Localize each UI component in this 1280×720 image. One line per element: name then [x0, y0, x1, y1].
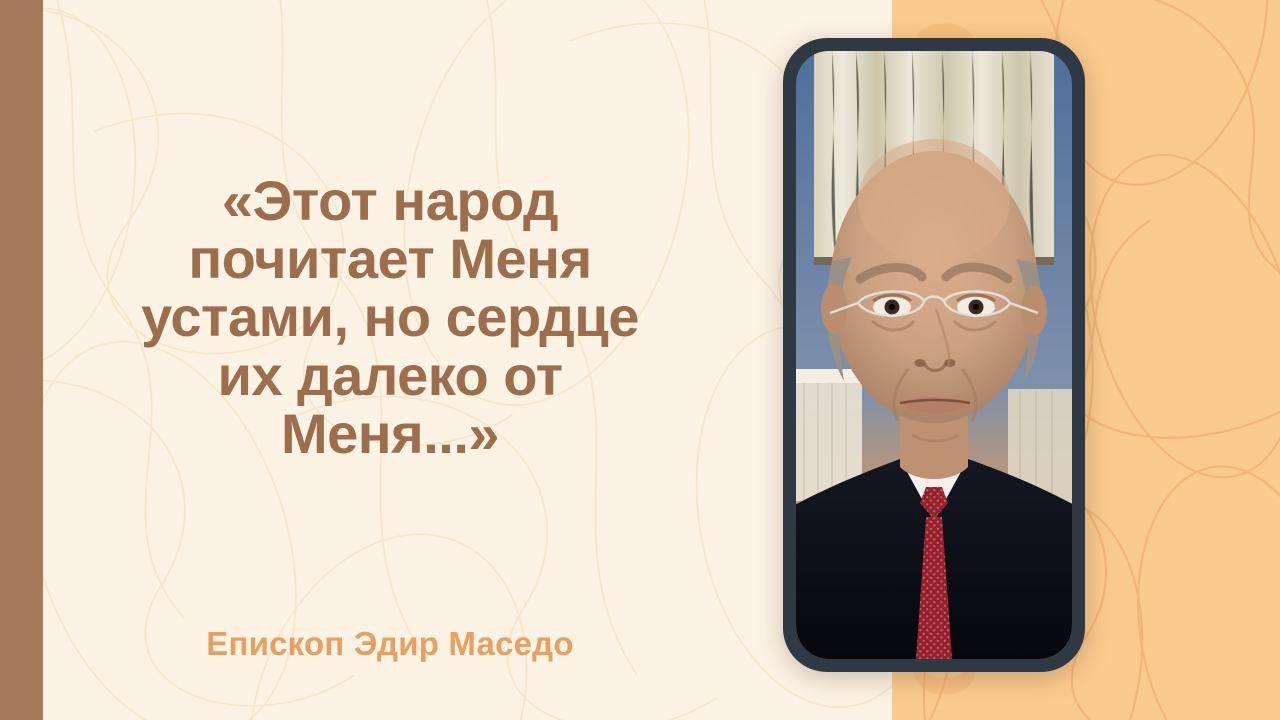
- quote-line: «Этот народ: [70, 172, 710, 230]
- left-accent-bar: [0, 0, 43, 720]
- phone-mockup: [783, 38, 1085, 672]
- phone-screen: [796, 51, 1072, 659]
- quote-line: почитает Меня: [70, 230, 710, 288]
- video-portrait: [796, 51, 1072, 659]
- quote-line: устами, но сердце: [70, 288, 710, 346]
- quote-attribution: Епископ Эдир Маседо: [70, 625, 710, 663]
- quote-line: Меня...»: [70, 405, 710, 463]
- quote-text: «Этот народ почитает Меня устами, но сер…: [70, 172, 710, 463]
- quote-card: edirmacedo «Этот народ почитает Меня уст…: [0, 0, 1280, 720]
- quote-line: их далеко от: [70, 347, 710, 405]
